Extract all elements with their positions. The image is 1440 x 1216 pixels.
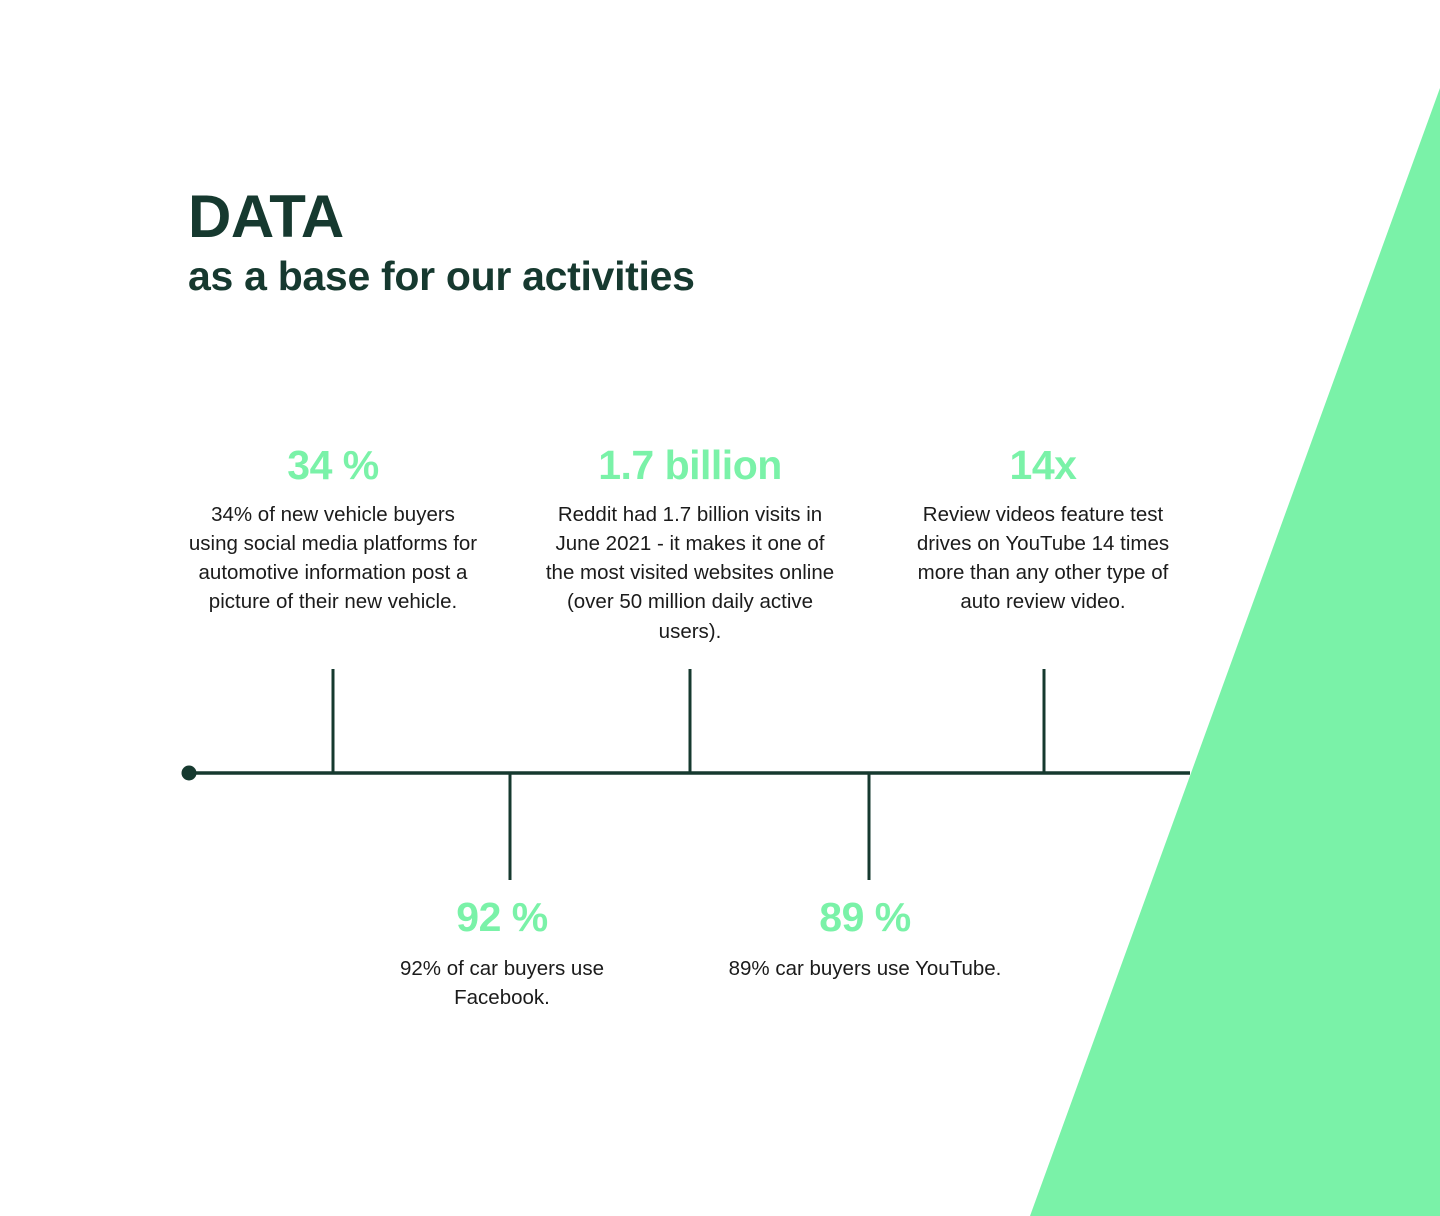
stat-description-3: Review videos feature test drives on You… [898, 500, 1188, 616]
stat-block-4: 92 % 92% of car buyers use Facebook. [362, 895, 642, 1012]
stat-value-3: 14x [898, 443, 1188, 488]
timeline-start-dot [182, 766, 197, 781]
stat-description-2: Reddit had 1.7 billion visits in June 20… [545, 500, 835, 646]
stat-block-1: 34 % 34% of new vehicle buyers using soc… [188, 443, 478, 617]
stat-description-4: 92% of car buyers use Facebook. [362, 954, 642, 1012]
stat-value-2: 1.7 billion [545, 443, 835, 488]
stat-value-5: 89 % [725, 895, 1005, 940]
slide-canvas: DATA as a base for our activities 34 % 3… [0, 0, 1440, 1216]
stat-value-4: 92 % [362, 895, 642, 940]
stat-block-5: 89 % 89% car buyers use YouTube. [725, 895, 1005, 983]
stat-block-2: 1.7 billion Reddit had 1.7 billion visit… [545, 443, 835, 646]
stat-block-3: 14x Review videos feature test drives on… [898, 443, 1188, 617]
stat-description-5: 89% car buyers use YouTube. [725, 954, 1005, 983]
stat-description-1: 34% of new vehicle buyers using social m… [188, 500, 478, 616]
stat-value-1: 34 % [188, 443, 478, 488]
